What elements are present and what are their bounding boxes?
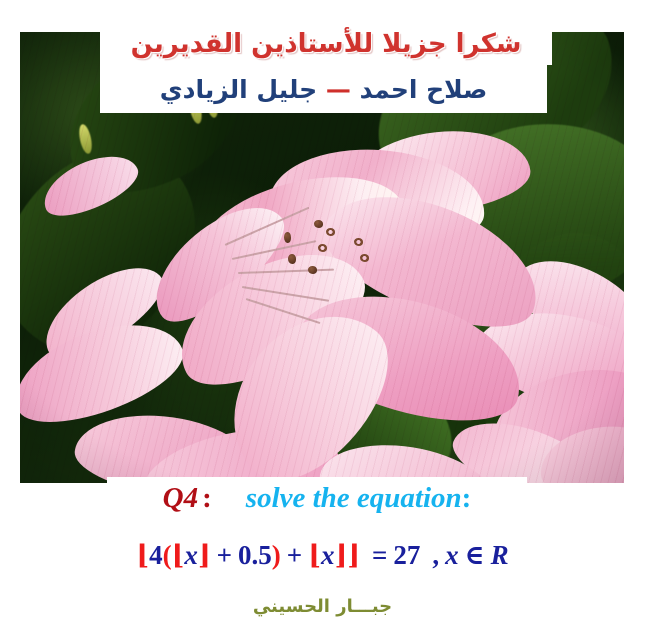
stamen-anther	[308, 266, 317, 274]
question-instruction-text: solve the equation	[246, 482, 462, 515]
variable-x-1: x	[184, 540, 198, 570]
header-caption-box-secondary: صلاح احمد — جليل الزيادي	[100, 65, 547, 113]
real-numbers-set: R	[491, 540, 509, 570]
coefficient-four: 4	[149, 540, 163, 570]
teacher-name-first: صلاح احمد	[360, 75, 488, 104]
teacher-names-arabic: صلاح احمد — جليل الزيادي	[160, 75, 488, 104]
question-prompt-line: Q4:solve the equation:	[163, 482, 472, 515]
constant-half: 0.5	[238, 540, 272, 570]
inner-floor-open-bracket-2: ⌊	[308, 540, 321, 570]
variable-x-2: x	[321, 540, 335, 570]
plus-operator-2: +	[287, 540, 302, 570]
question-number-label: Q4	[163, 482, 198, 515]
question-caption-box: Q4:solve the equation:	[107, 477, 527, 519]
stamen-anther	[326, 228, 335, 236]
name-separator-dash: —	[326, 75, 351, 104]
inner-floor-close-bracket-1: ⌋	[198, 540, 211, 570]
variable-x-3: x	[445, 540, 459, 570]
result-value: 27	[393, 540, 420, 570]
plus-operator-1: +	[217, 540, 232, 570]
author-signature-arabic: جبـــار الحسيني	[0, 596, 645, 617]
element-of-symbol: ∈	[465, 540, 485, 570]
equation-expression: ⌊4(⌊x⌋+0.5)+⌊x⌋⌋=27,x∈R	[0, 540, 645, 571]
outer-floor-open-bracket: ⌊	[136, 540, 149, 570]
outer-floor-close-bracket: ⌋	[347, 540, 360, 570]
equals-sign: =	[372, 540, 387, 570]
thanks-heading-arabic: شكرا جزيلا للأستاذين القديرين	[131, 29, 522, 59]
stamen-anther	[354, 238, 363, 246]
slide-canvas: شكرا جزيلا للأستاذين القديرين صلاح احمد …	[0, 0, 645, 639]
stamen-anther	[288, 254, 296, 264]
stamen-anther	[284, 232, 291, 243]
stamen-anther	[318, 244, 327, 252]
paren-open: (	[163, 540, 172, 570]
stamen-anther	[314, 220, 323, 228]
stamen-anther	[360, 254, 369, 262]
comma-separator: ,	[432, 540, 439, 570]
header-caption-box-primary: شكرا جزيلا للأستاذين القديرين	[100, 22, 552, 65]
paren-close: )	[272, 540, 281, 570]
inner-floor-close-bracket-2: ⌋	[334, 540, 347, 570]
inner-floor-open-bracket-1: ⌊	[172, 540, 185, 570]
question-number-colon: :	[202, 482, 212, 515]
question-instruction-colon: :	[462, 482, 472, 515]
teacher-name-second: جليل الزيادي	[160, 75, 317, 104]
